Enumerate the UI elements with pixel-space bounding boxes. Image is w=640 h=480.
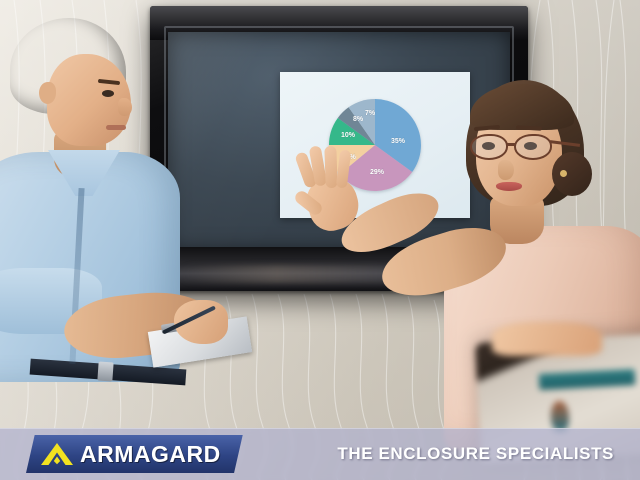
armagard-logo[interactable]: ARMAGARD (26, 435, 243, 473)
chevron-a-mark-icon (40, 442, 74, 466)
man-mouth (106, 125, 126, 130)
pie-label-4: 8% (353, 116, 364, 123)
foreground-hand (492, 322, 602, 356)
pie-label-3: 10% (341, 132, 356, 139)
pie-label-0: 35% (391, 138, 406, 145)
woman-glasses (470, 134, 568, 160)
man-nose (118, 98, 132, 116)
laptop-object (550, 401, 570, 432)
banner-tagline: THE ENCLOSURE SPECIALISTS (337, 444, 614, 464)
woman-lips (496, 182, 522, 191)
man-belt-buckle (97, 361, 113, 381)
man-presenter (0, 18, 212, 428)
banner-divider (0, 428, 640, 429)
pie-label-1: 29% (370, 169, 385, 176)
armagard-wordmark: ARMAGARD (80, 441, 221, 468)
pie-label-5: 7% (365, 110, 376, 117)
glasses-lens-right (514, 134, 552, 160)
glasses-lens-left (470, 134, 508, 160)
brand-banner: ARMAGARD THE ENCLOSURE SPECIALISTS (0, 428, 640, 480)
laptop-screen-bar (539, 369, 636, 390)
woman-nose (498, 160, 514, 180)
screenshot-scene: 35% 29% 11% 10% 8% 7% (0, 0, 640, 480)
man-ear (39, 82, 56, 104)
man-eye (102, 90, 114, 97)
glasses-bridge (507, 143, 516, 146)
woman-hair-front (470, 84, 574, 130)
woman-earring (560, 170, 567, 177)
